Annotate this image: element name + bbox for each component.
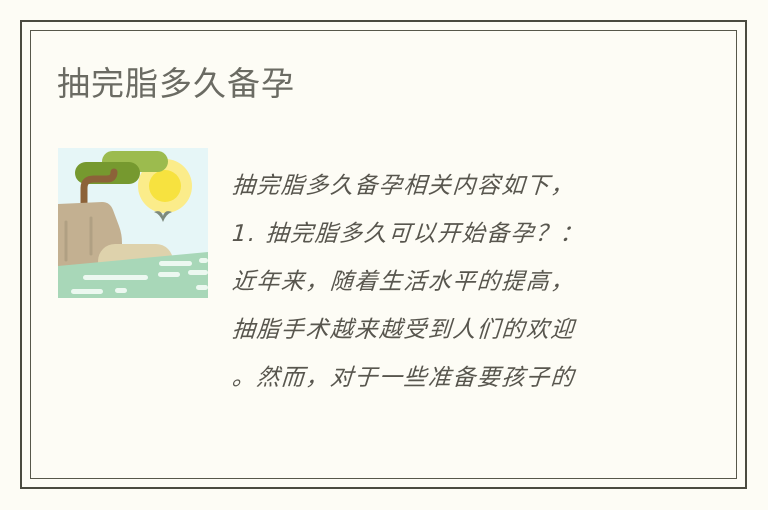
article-card: 抽完脂多久备孕	[0, 0, 768, 510]
article-thumbnail	[58, 148, 208, 298]
page-title: 抽完脂多久备孕	[57, 63, 295, 105]
body-line: 抽完脂多久备孕相关内容如下，	[230, 162, 658, 210]
body-line: 近年来，随着生活水平的提高，	[230, 258, 658, 306]
body-line: 。然而，对于一些准备要孩子的	[230, 354, 658, 402]
cliff-tree-sun-sea-illustration	[58, 148, 208, 298]
body-line: 抽脂手术越来越受到人们的欢迎	[230, 306, 658, 354]
body-line: 1. 抽完脂多久可以开始备孕？：	[230, 210, 658, 258]
article-body: 抽完脂多久备孕相关内容如下， 1. 抽完脂多久可以开始备孕？： 近年来，随着生活…	[232, 162, 657, 402]
